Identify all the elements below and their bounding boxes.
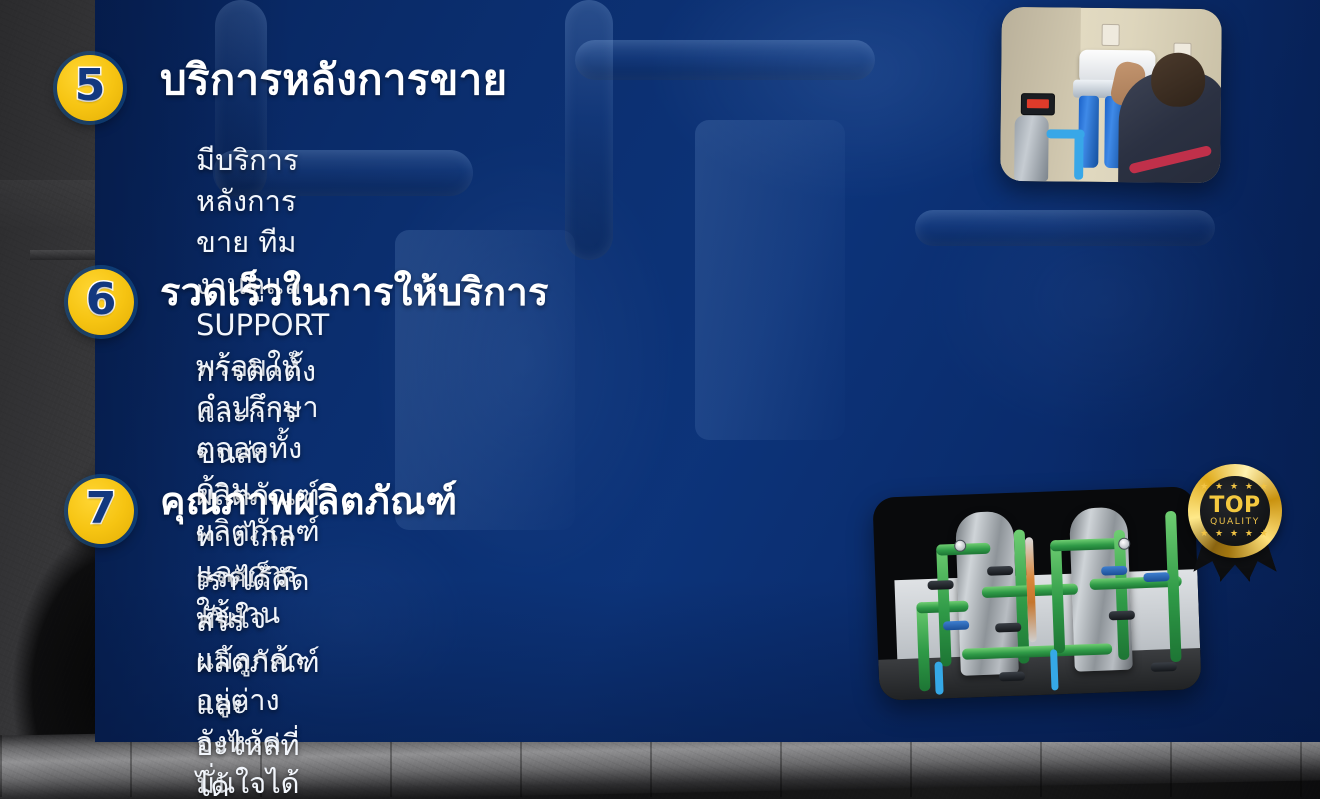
photo-softener-tank xyxy=(1014,115,1049,181)
number-badge-5: 5 xyxy=(57,55,123,121)
poster-canvas: 5 บริการหลังการขาย มีบริการหลังการขาย ที… xyxy=(0,0,1320,799)
seal-subtitle: QUALITY xyxy=(1210,518,1260,527)
photo-pressure-gauge xyxy=(1118,537,1130,549)
photo-outlet xyxy=(1102,24,1120,46)
photo-valve-handle xyxy=(995,623,1021,633)
seal-stars-top-icon: ★ ★ ★ ★ ★ xyxy=(1200,483,1270,492)
photo-technician-head xyxy=(1151,52,1206,107)
seal-title: TOP xyxy=(1209,495,1260,517)
photo-technician-installing-filter xyxy=(1000,7,1222,183)
seal-inner-disc: ★ ★ ★ ★ ★ TOP QUALITY ★ ★ ★ ★ ★ xyxy=(1200,476,1270,546)
photo-blue-pipe xyxy=(1050,650,1058,691)
number-badge-7: 7 xyxy=(68,478,134,544)
feature-heading-7: คุณภาพผลิตภัณฑ์ xyxy=(160,480,458,523)
photo-valve-handle xyxy=(987,566,1013,576)
photo-valve-handle xyxy=(943,620,969,630)
photo-blue-pipe xyxy=(934,662,943,695)
photo-valve-handle xyxy=(1143,572,1169,582)
photo-water-treatment-tanks xyxy=(872,486,1201,701)
photo-valve-handle xyxy=(1109,610,1135,620)
feature-heading-6: รวดเร็วในการให้บริการ xyxy=(160,271,549,314)
seal-stars-bottom-icon: ★ ★ ★ ★ ★ xyxy=(1200,530,1270,539)
photo-valve-handle xyxy=(1101,566,1127,576)
photo-valve-handle xyxy=(999,671,1025,681)
feature-body-7: เราได้คัดสรรผลิตภัณฑ์และอะไหล่ที่ได้มาตร… xyxy=(196,560,320,799)
number-badge-6: 6 xyxy=(68,269,134,335)
number-badge-label: 7 xyxy=(86,487,117,531)
photo-pressure-gauge xyxy=(954,539,966,551)
photo-blue-pipe xyxy=(1074,130,1084,180)
feature-heading-5: บริการหลังการขาย xyxy=(160,56,507,103)
seal-gold-ring: ★ ★ ★ ★ ★ TOP QUALITY ★ ★ ★ ★ ★ xyxy=(1188,464,1282,558)
photo-control-valve xyxy=(1021,93,1055,115)
photo-valve-handle xyxy=(927,580,953,590)
number-badge-label: 5 xyxy=(75,64,106,108)
photo-valve-handle xyxy=(1151,662,1177,672)
top-quality-seal-badge: ★ ★ ★ ★ ★ TOP QUALITY ★ ★ ★ ★ ★ xyxy=(1182,462,1288,590)
number-badge-label: 6 xyxy=(86,278,117,322)
